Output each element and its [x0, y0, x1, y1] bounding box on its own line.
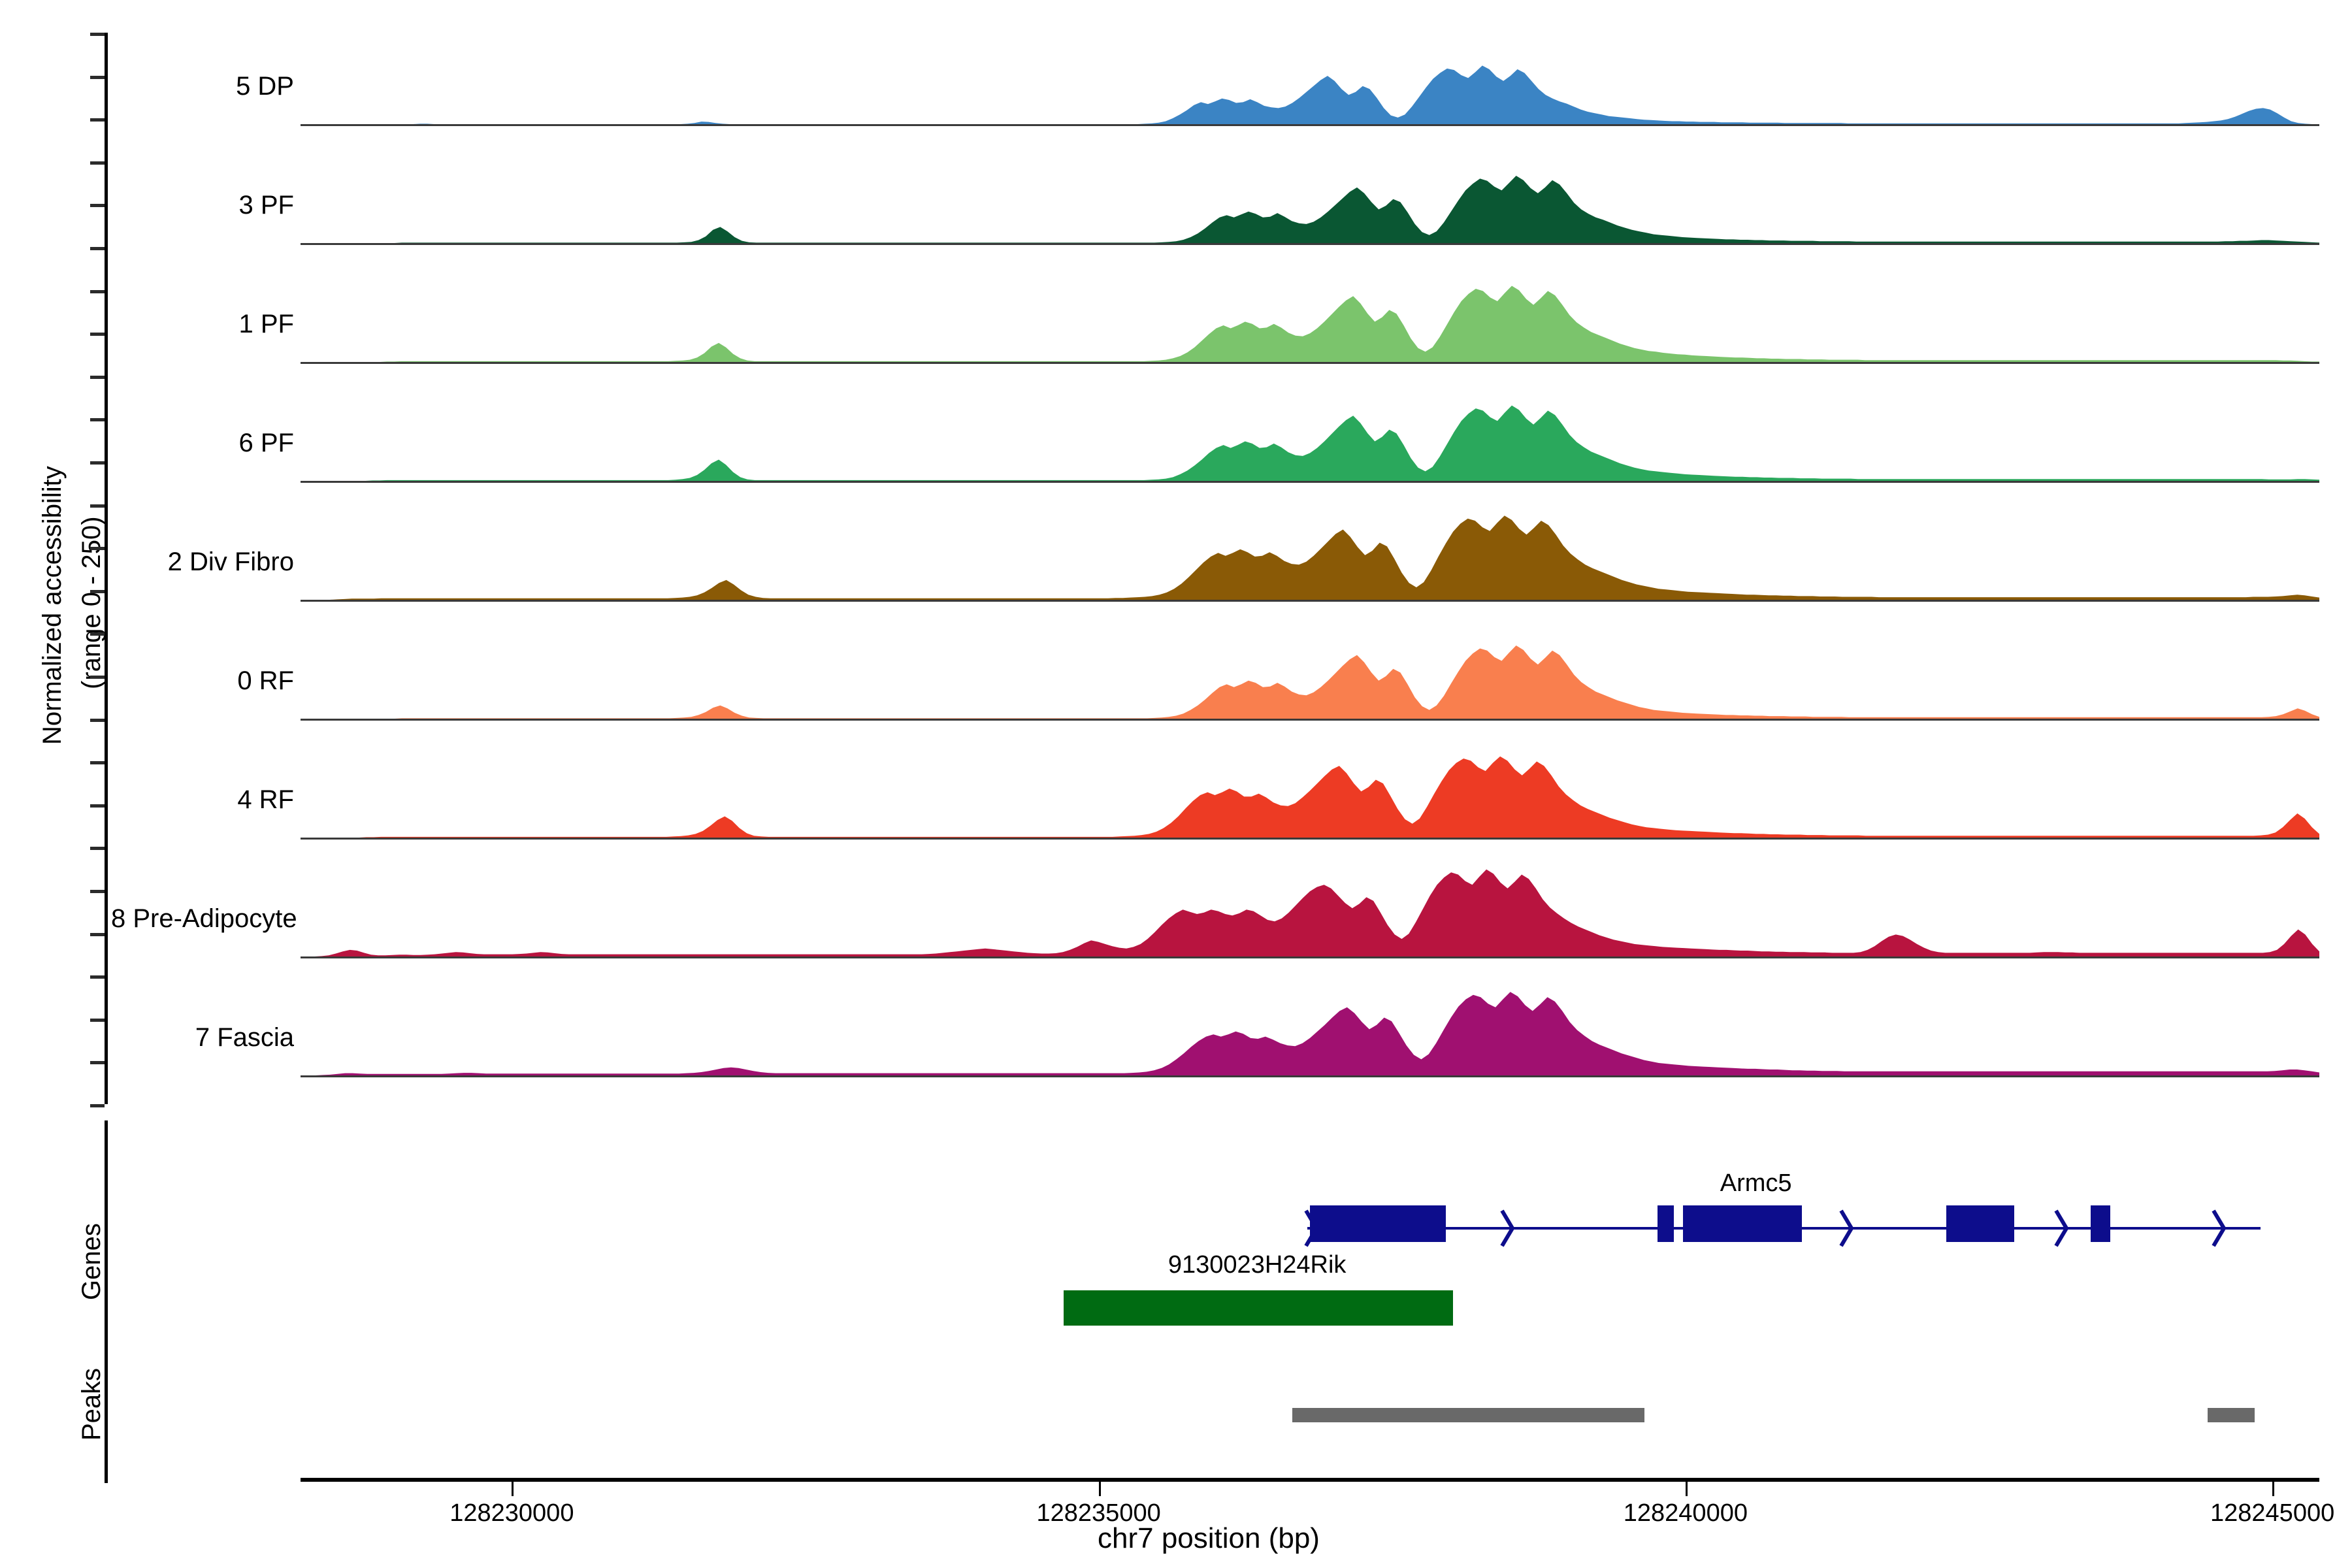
signal-track [301, 33, 2319, 126]
signal-axis-tick [90, 33, 105, 36]
signal-axis-tick [90, 247, 105, 250]
gene-block [1064, 1290, 1453, 1326]
signal-axis-tick [90, 804, 105, 808]
signal-axis-tick [90, 890, 105, 893]
signal-axis-tick [90, 547, 105, 550]
track-label: 8 Pre-Adipocyte [111, 904, 294, 934]
strand-arrow-icon [2052, 1205, 2074, 1251]
signal-axis-tick [90, 847, 105, 850]
signal-track [301, 508, 2319, 602]
signal-track [301, 152, 2319, 245]
signal-axis-tick [90, 1061, 105, 1064]
gene-exon [1946, 1205, 2014, 1242]
x-axis-tick-label: 128245000 [2158, 1499, 2352, 1527]
x-axis-tick-label: 128230000 [397, 1499, 626, 1527]
signal-waveform [301, 389, 2319, 481]
signal-waveform [301, 270, 2319, 362]
signal-axis-tick [90, 204, 105, 207]
x-axis-line [301, 1478, 2319, 1482]
track-baseline [301, 600, 2319, 602]
signal-axis-rule [105, 33, 108, 1104]
track-baseline [301, 956, 2319, 958]
signal-waveform [301, 508, 2319, 600]
signal-waveform [301, 152, 2319, 243]
track-baseline [301, 243, 2319, 245]
signal-axis-tick [90, 933, 105, 936]
x-axis-title: chr7 position (bp) [980, 1522, 1437, 1555]
strand-arrow-icon [1837, 1205, 1859, 1251]
x-axis-tick [512, 1482, 514, 1496]
gene-name-label: Armc5 [1625, 1169, 1887, 1198]
track-baseline [301, 838, 2319, 840]
track-baseline [301, 362, 2319, 364]
signal-waveform [301, 746, 2319, 838]
track-baseline [301, 1075, 2319, 1077]
signal-axis-tick [90, 719, 105, 722]
y-axis-label-line1: Normalized accessibility [38, 466, 67, 745]
peak-block [1292, 1408, 1644, 1422]
track-label: 6 PF [111, 429, 294, 458]
signal-axis-tick [90, 76, 105, 79]
track-baseline [301, 124, 2319, 126]
y-axis-label-line2: (range 0 - 250) [77, 516, 106, 689]
track-label: 4 RF [111, 785, 294, 815]
signal-axis-tick [90, 161, 105, 165]
x-axis-tick [1686, 1482, 1688, 1496]
signal-track [301, 389, 2319, 483]
signal-axis-tick [90, 975, 105, 979]
gene-exon [1683, 1205, 1801, 1242]
signal-track [301, 984, 2319, 1077]
signal-waveform [301, 984, 2319, 1075]
signal-axis-tick [90, 676, 105, 679]
gene-exon [1310, 1205, 1446, 1242]
track-baseline [301, 481, 2319, 483]
gene-exon [2091, 1205, 2111, 1242]
track-label: 3 PF [111, 191, 294, 220]
signal-track [301, 270, 2319, 364]
track-label: 5 DP [111, 72, 294, 101]
signal-axis-tick [90, 418, 105, 421]
signal-track [301, 746, 2319, 840]
track-label: 0 RF [111, 666, 294, 696]
x-axis-tick [1099, 1482, 1101, 1496]
signal-waveform [301, 865, 2319, 956]
x-axis-tick [2272, 1482, 2274, 1496]
strand-arrow-icon [1302, 1205, 1324, 1251]
signal-axis-tick [90, 118, 105, 122]
signal-waveform [301, 627, 2319, 719]
gene-exon [1658, 1205, 1674, 1242]
signal-axis-tick [90, 632, 105, 636]
signal-waveform [301, 33, 2319, 124]
gene-name-label: 9130023H24Rik [1061, 1251, 1453, 1279]
signal-axis-tick [90, 590, 105, 593]
signal-axis-tick [90, 290, 105, 293]
signal-axis-tick [90, 504, 105, 508]
strand-arrow-icon [1498, 1205, 1520, 1251]
track-label: 7 Fascia [111, 1023, 294, 1053]
peaks-panel-label: Peaks [77, 1368, 106, 1441]
track-label: 1 PF [111, 310, 294, 339]
track-baseline [301, 719, 2319, 721]
strand-arrow-icon [2210, 1205, 2232, 1251]
track-label: 2 Div Fibro [111, 547, 294, 577]
signal-axis-tick [90, 333, 105, 336]
signal-axis-tick [90, 461, 105, 465]
peak-block [2208, 1408, 2255, 1422]
signal-axis-tick [90, 376, 105, 379]
signal-axis-tick [90, 1104, 105, 1107]
signal-axis-tick [90, 1019, 105, 1022]
x-axis-tick-label: 128240000 [1571, 1499, 1800, 1527]
signal-axis-tick [90, 761, 105, 764]
signal-track [301, 627, 2319, 721]
genes-panel-label: Genes [77, 1223, 106, 1300]
signal-track [301, 865, 2319, 958]
